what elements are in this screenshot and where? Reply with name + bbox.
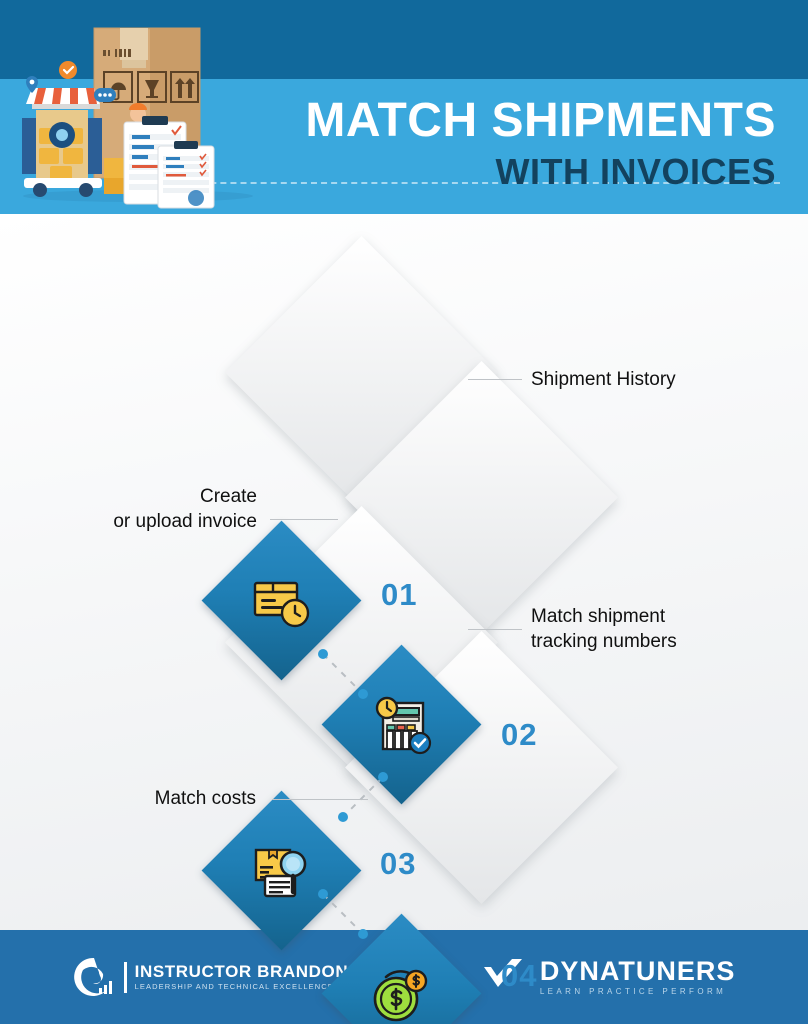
page-subtitle: WITH INVOICES [305,150,776,194]
page-title: MATCH SHIPMENTS [305,94,776,148]
step-label-03-line1: Match shipment [531,604,781,629]
step-label-04: Match costs [20,786,256,811]
step-connector-02-03 [335,769,460,889]
step-label-01: Shipment History [531,367,781,392]
steps-container: 01 Shipment History [0,214,808,930]
step-label-02-line2: or upload invoice [20,509,257,534]
step-leader-line-01 [468,379,522,380]
infographic-page: MATCH SHIPMENTS WITH INVOICES 01 Shipmen… [0,0,808,1024]
step-leader-line-04 [272,799,368,800]
brand-right-name: DYNATUNERS [540,957,736,986]
header-banner: MATCH SHIPMENTS WITH INVOICES [0,0,808,214]
step-leader-line-02 [270,519,338,520]
step-connector-03-04 [315,886,440,1006]
step-label-02: Create or upload invoice [20,484,257,534]
step-number-01: 01 [381,577,417,613]
header-title-block: MATCH SHIPMENTS WITH INVOICES [305,94,776,194]
step-number-04: 04 [501,958,537,994]
step-label-03: Match shipment tracking numbers [531,604,781,654]
swirl-person-chart-icon [73,956,115,998]
brand-right-tagline: LEARN PRACTICE PERFORM [540,986,736,998]
step-label-02-line1: Create [20,484,257,509]
header-illustration [8,10,268,214]
step-label-03-line2: tracking numbers [531,629,781,654]
step-leader-line-03 [468,629,522,630]
step-number-02: 02 [501,717,537,753]
brand-instructor-brandon[interactable]: INSTRUCTOR BRANDON LEADERSHIP AND TECHNI… [73,956,349,998]
